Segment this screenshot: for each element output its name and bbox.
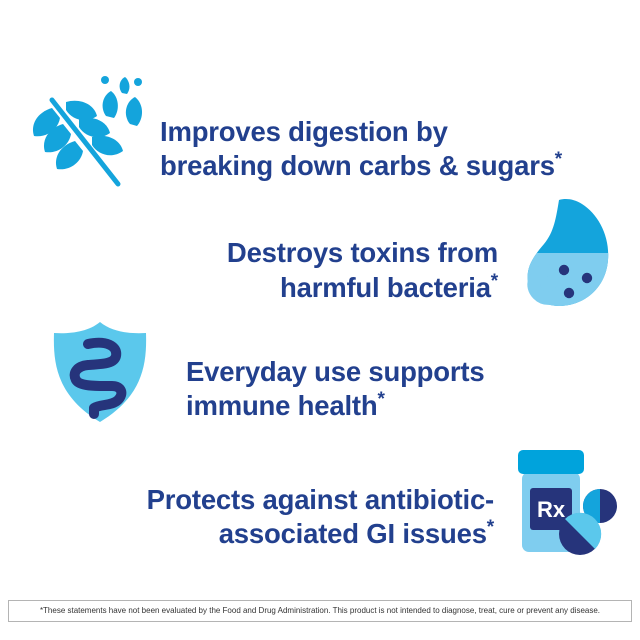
benefit-row: Protects against antibiotic- associated … — [22, 444, 622, 556]
benefit-text: Everyday use supports immune health* — [186, 320, 484, 424]
benefit-label: Protects against antibiotic- associated … — [147, 484, 494, 550]
benefit-row: Destroys toxins from harmful bacteria* — [40, 196, 622, 311]
benefit-label: Improves digestion by breaking down carb… — [160, 116, 555, 182]
footnote-marker: * — [491, 271, 498, 292]
footnote-marker: * — [377, 389, 384, 410]
disclaimer-text: *These statements have not been evaluate… — [36, 606, 603, 616]
benefit-row: Everyday use supports immune health* — [44, 320, 634, 424]
disclaimer-section: *These statements have not been evaluate… — [0, 582, 640, 640]
disclaimer-box: *These statements have not been evaluate… — [8, 600, 632, 623]
benefits-list: Improves digestion by breaking down carb… — [0, 0, 640, 582]
footnote-marker: * — [555, 149, 562, 170]
benefit-label: Destroys toxins from harmful bacteria — [227, 237, 498, 303]
bacteria-dot — [582, 273, 592, 283]
pill-large — [559, 513, 601, 555]
wheat-grain-icon — [22, 72, 150, 192]
benefit-text: Destroys toxins from harmful bacteria* — [227, 202, 498, 306]
bottle-cap — [518, 450, 584, 474]
benefit-text: Improves digestion by breaking down carb… — [160, 80, 562, 184]
pill-bottle-rx-icon: Rx — [512, 444, 622, 556]
benefits-infographic: Improves digestion by breaking down carb… — [0, 0, 640, 640]
benefit-row: Improves digestion by breaking down carb… — [22, 72, 622, 192]
footnote-marker: * — [487, 517, 494, 538]
bacteria-dot — [564, 288, 574, 298]
benefit-label: Everyday use supports immune health — [186, 356, 484, 422]
benefit-text: Protects against antibiotic- associated … — [147, 448, 494, 552]
stomach-icon — [512, 196, 622, 311]
bacteria-dot — [559, 265, 569, 275]
shield-intestine-icon — [44, 320, 156, 424]
rx-label: Rx — [537, 497, 566, 522]
